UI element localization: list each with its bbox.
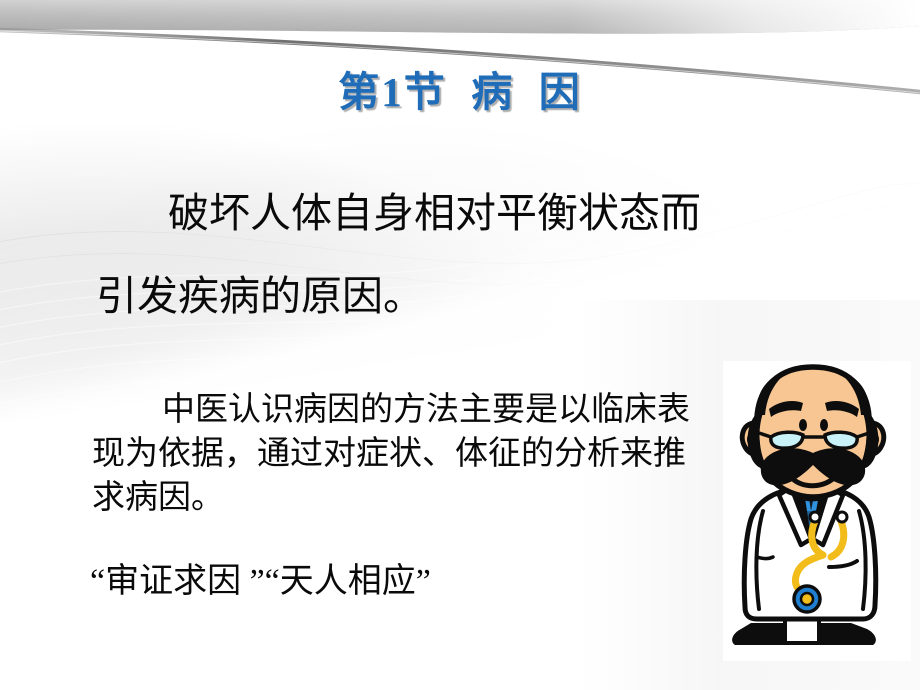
body-paragraph-definition: 破坏人体自身相对平衡状态而引发疾病的原因。 xyxy=(96,172,736,338)
doctor-illustration xyxy=(723,361,911,661)
body-paragraph-quotes: “审证求因 ”“天人相应” xyxy=(90,560,710,604)
slide-title: 第1节 病 因 xyxy=(0,58,920,118)
body-paragraph-method: 中医认识病因的方法主要是以临床表现为依据，通过对症状、体征的分析来推求病因。 xyxy=(92,388,702,520)
cartoon-doctor-icon xyxy=(723,361,911,661)
slide-canvas: 第1节 病 因 破坏人体自身相对平衡状态而引发疾病的原因。 中医认识病因的方法主… xyxy=(0,0,920,690)
